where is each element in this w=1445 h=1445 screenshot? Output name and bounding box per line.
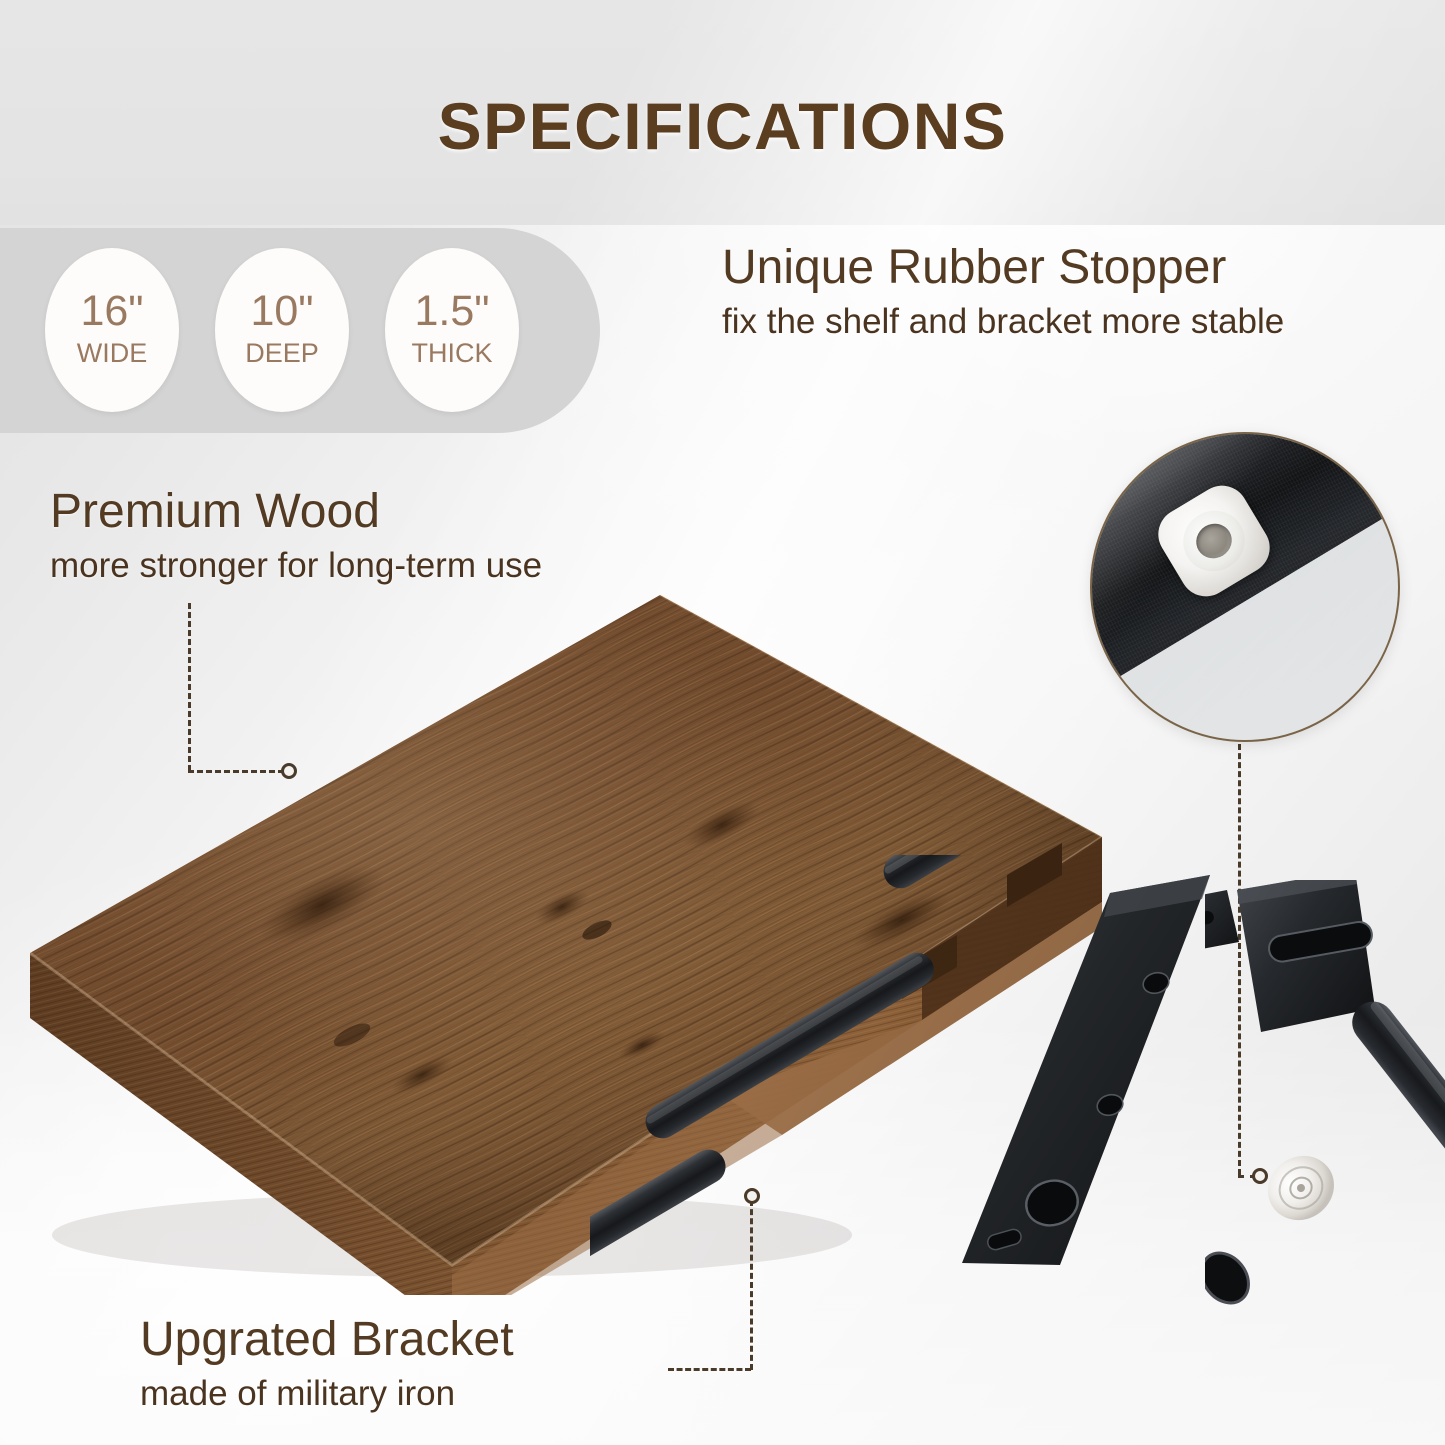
leader-dot-wood xyxy=(281,763,297,779)
page-title: SPECIFICATIONS xyxy=(0,88,1445,164)
inset-shading xyxy=(1092,434,1398,740)
spec-badge-thickness: 1.5" THICK xyxy=(385,248,519,412)
spec-badge-label: WIDE xyxy=(77,337,148,371)
spec-badge-number: 1.5" xyxy=(414,290,489,333)
callout-title: Upgrated Bracket xyxy=(140,1315,760,1365)
rubber-stopper-detail-inset xyxy=(1090,432,1400,742)
callout-subtitle: more stronger for long-term use xyxy=(50,545,710,587)
spec-badge-number: 16" xyxy=(80,290,143,333)
leader-line-wood-horizontal xyxy=(188,770,284,773)
callout-rubber-stopper: Unique Rubber Stopper fix the shelf and … xyxy=(722,243,1422,343)
spec-badge-depth: 10" DEEP xyxy=(215,248,349,412)
callout-upgrated-bracket: Upgrated Bracket made of military iron xyxy=(140,1315,760,1415)
spec-badge-number: 10" xyxy=(250,290,313,333)
callout-title: Premium Wood xyxy=(50,487,710,537)
callout-title: Unique Rubber Stopper xyxy=(722,243,1422,293)
callout-subtitle: made of military iron xyxy=(140,1373,760,1415)
shelf-bracket-secondary xyxy=(1205,880,1445,1350)
callout-subtitle: fix the shelf and bracket more stable xyxy=(722,301,1422,343)
callout-premium-wood: Premium Wood more stronger for long-term… xyxy=(50,487,710,587)
leader-line-wood-vertical xyxy=(188,603,191,771)
shelf-bracket-main xyxy=(590,855,1250,1305)
spec-badge-label: THICK xyxy=(412,337,493,371)
spec-badge-width: 16" WIDE xyxy=(45,248,179,412)
leader-line-bracket-horizontal xyxy=(668,1368,751,1371)
spec-badge-label: DEEP xyxy=(245,337,319,371)
